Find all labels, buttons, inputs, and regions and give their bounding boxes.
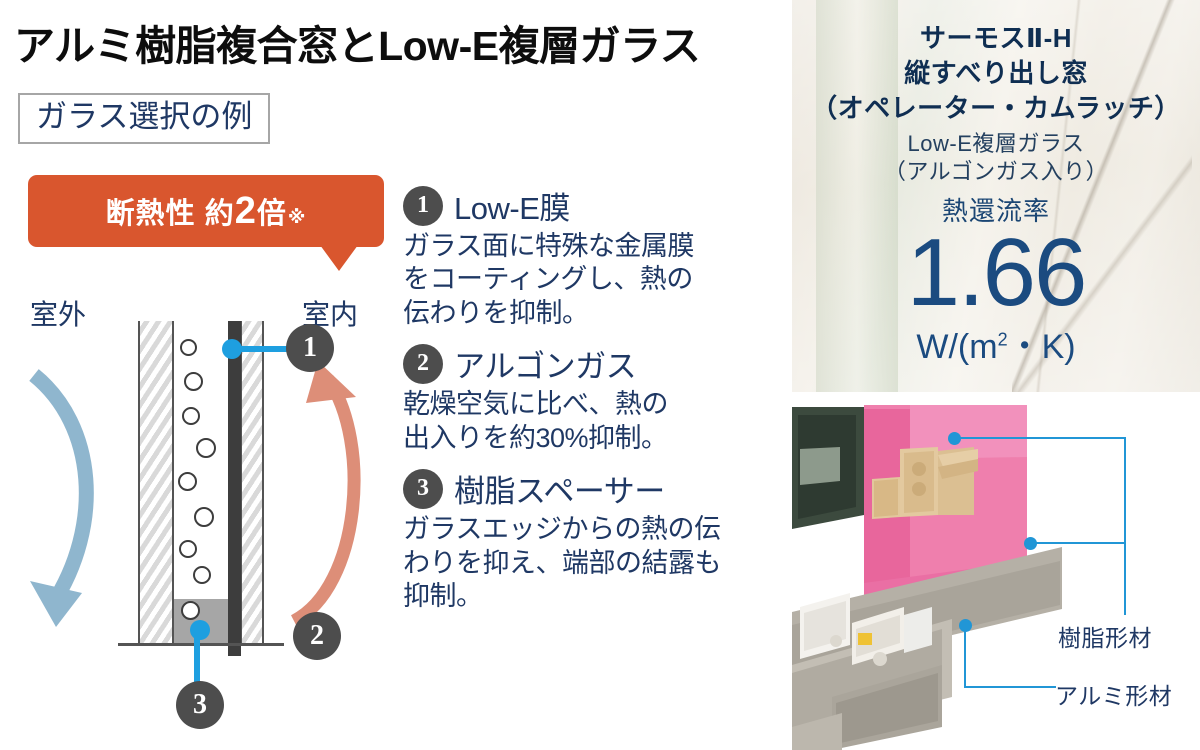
argon-bubble-highlighted xyxy=(181,601,200,620)
glass-fill: （アルゴンガス入り） xyxy=(792,158,1200,186)
glass-type: Low-E複層ガラス xyxy=(792,130,1200,158)
left-column: アルミ樹脂複合窓とLow‐E複層ガラス ガラス選択の例 断熱性 約2倍※ 室外 … xyxy=(0,0,790,750)
badge-pointer-triangle xyxy=(320,245,358,271)
frame-cross-section-photo-panel: 樹脂形材 アルミ形材 xyxy=(792,397,1200,750)
callout-label-resin: 樹脂形材 xyxy=(1058,619,1152,653)
argon-bubble xyxy=(193,566,211,584)
unit-superscript: 2 xyxy=(998,330,1008,350)
callout-line-resin-top xyxy=(954,437,1126,439)
feature-body: ガラス面に特殊な金属膜 をコーティングし、熱の 伝わりを抑制。 xyxy=(403,230,788,330)
metric-value: 1.66 xyxy=(792,228,1200,318)
insulation-badge: 断熱性 約2倍※ xyxy=(28,175,384,271)
callout-label-aluminum: アルミ形材 xyxy=(1055,677,1172,711)
unit-suffix: ・K) xyxy=(1008,328,1076,366)
low-e-coating-film xyxy=(228,321,241,656)
page-title: アルミ樹脂複合窓とLow‐E複層ガラス xyxy=(14,12,700,72)
callout-line-resin-vertical xyxy=(1124,437,1126,615)
infographic-root: アルミ樹脂複合窓とLow‐E複層ガラス ガラス選択の例 断熱性 約2倍※ 室外 … xyxy=(0,0,1200,750)
argon-bubble xyxy=(184,372,203,391)
feature-body: ガラスエッジからの熱の伝 わりを抑え、端部の結露も 抑制。 xyxy=(403,513,788,613)
argon-bubble xyxy=(180,339,197,356)
callout-line-aluminum-horizontal xyxy=(964,686,1056,688)
feature-list: 1 Low-E膜 ガラス面に特殊な金属膜 をコーティングし、熱の 伝わりを抑制。… xyxy=(403,183,788,619)
diagram-marker-3: 3 xyxy=(176,681,224,729)
product-spec-text: サーモスⅡ-H 縦すべり出し窓 （オペレーター・カムラッチ） Low-E複層ガラ… xyxy=(792,0,1200,368)
feature-number-badge: 1 xyxy=(403,186,443,226)
feature-number-badge: 2 xyxy=(403,344,443,384)
badge-value: 2 xyxy=(235,192,257,230)
feature-heading: 2 アルゴンガス xyxy=(403,341,788,386)
diagram-marker-1: 1 xyxy=(286,324,334,372)
feature-item: 2 アルゴンガス 乾燥空気に比べ、熱の 出入りを約30%抑制。 xyxy=(403,341,788,455)
section-tag: ガラス選択の例 xyxy=(18,93,270,144)
product-spec-panel: サーモスⅡ-H 縦すべり出し窓 （オペレーター・カムラッチ） Low-E複層ガラ… xyxy=(792,0,1200,392)
feature-title: アルゴンガス xyxy=(454,341,636,386)
feature-item: 3 樹脂スペーサー ガラスエッジからの熱の伝 わりを抑え、端部の結露も 抑制。 xyxy=(403,466,788,613)
insulation-badge-text: 断熱性 約2倍※ xyxy=(106,190,307,232)
badge-suffix: 倍 xyxy=(257,190,287,232)
inner-glass-pane xyxy=(240,321,264,645)
unit-prefix: W/(m xyxy=(916,328,997,366)
glass-cross-section-diagram: 室外 室内 xyxy=(0,275,400,750)
argon-bubble xyxy=(179,540,197,558)
feature-title: 樹脂スペーサー xyxy=(454,466,665,511)
metric-unit: W/(m2・K) xyxy=(792,319,1200,368)
feature-body: 乾燥空気に比べ、熱の 出入りを約30%抑制。 xyxy=(403,388,788,455)
outer-glass-pane xyxy=(138,321,174,645)
product-name: サーモスⅡ-H xyxy=(792,22,1200,55)
leader-dot-3 xyxy=(190,620,210,640)
argon-bubble xyxy=(182,407,200,425)
diagram-marker-2: 2 xyxy=(293,612,341,660)
window-sill-line xyxy=(118,643,284,646)
callout-line-resin-lower xyxy=(1030,542,1126,544)
insulation-badge-body: 断熱性 約2倍※ xyxy=(28,175,384,247)
callout-line-aluminum-vertical xyxy=(964,625,966,688)
argon-bubble xyxy=(178,472,197,491)
feature-heading: 3 樹脂スペーサー xyxy=(403,466,788,511)
argon-bubble xyxy=(196,438,216,458)
right-column: サーモスⅡ-H 縦すべり出し窓 （オペレーター・カムラッチ） Low-E複層ガラ… xyxy=(792,0,1200,750)
feature-item: 1 Low-E膜 ガラス面に特殊な金属膜 をコーティングし、熱の 伝わりを抑制。 xyxy=(403,183,788,330)
frame-cross-section-photo xyxy=(792,397,1062,750)
feature-title: Low-E膜 xyxy=(454,183,570,228)
feature-number-badge: 3 xyxy=(403,469,443,509)
badge-prefix: 断熱性 約 xyxy=(106,190,235,232)
double-glazing-assembly xyxy=(138,321,264,645)
feature-heading: 1 Low-E膜 xyxy=(403,183,788,228)
window-mechanism: （オペレーター・カムラッチ） xyxy=(792,92,1200,125)
argon-bubble xyxy=(194,507,214,527)
window-type: 縦すべり出し窓 xyxy=(792,57,1200,90)
badge-footnote-mark: ※ xyxy=(288,207,307,228)
